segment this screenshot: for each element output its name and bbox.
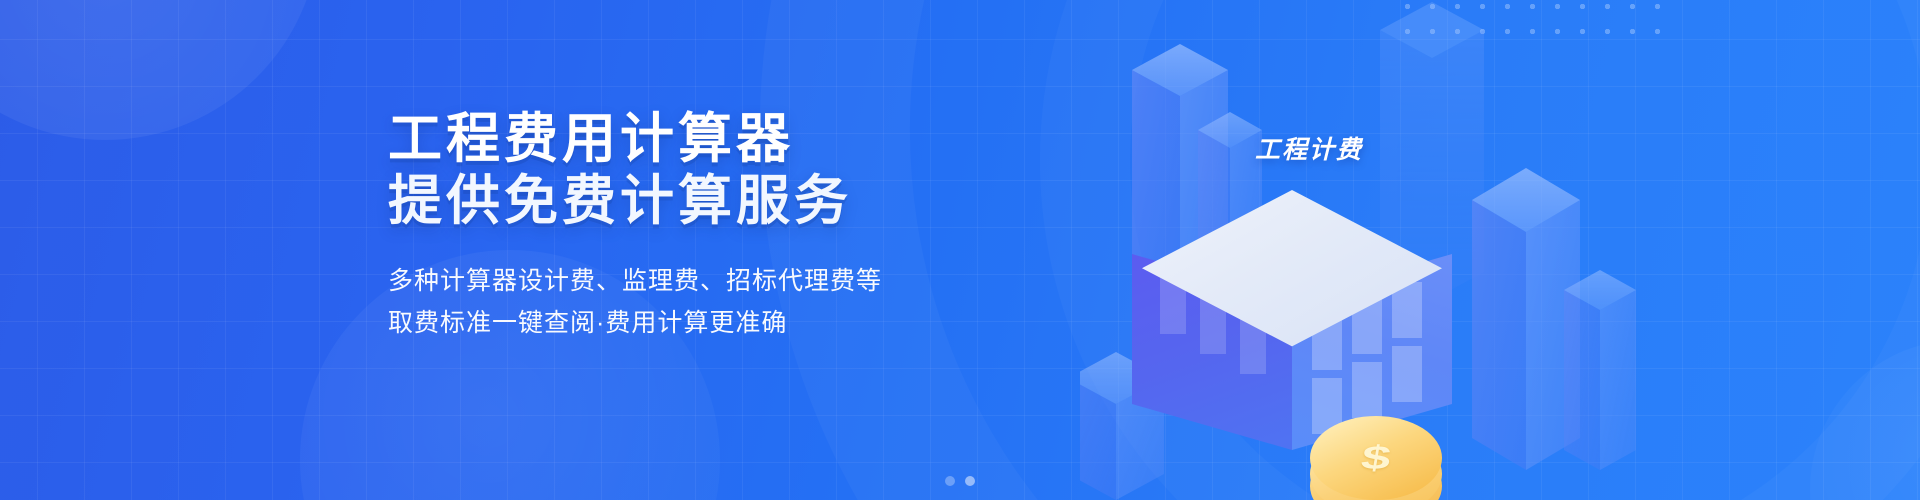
headline-line-1: 工程费用计算器 xyxy=(388,108,882,170)
building-cube: $ xyxy=(1132,236,1452,476)
subtitle-line-1: 多种计算器设计费、监理费、招标代理费等 xyxy=(388,260,882,302)
subtitle-line-2: 取费标准一键查阅·费用计算更准确 xyxy=(388,302,882,344)
carousel-dot-2[interactable] xyxy=(965,476,975,486)
headline-line-2: 提供免费计算服务 xyxy=(388,170,882,232)
carousel-dot-1[interactable] xyxy=(945,476,955,486)
illustration-tag-label: 工程计费 xyxy=(1255,130,1363,166)
banner-copy: 工程费用计算器 提供免费计算服务 多种计算器设计费、监理费、招标代理费等 取费标… xyxy=(388,108,882,344)
tower-right-main xyxy=(1472,168,1580,470)
promo-banner: 工程费用计算器 提供免费计算服务 多种计算器设计费、监理费、招标代理费等 取费标… xyxy=(0,0,1920,500)
isometric-illustration: $ xyxy=(1080,0,1640,500)
carousel-indicators[interactable] xyxy=(0,476,1920,486)
gold-coin-stack-icon: $ xyxy=(1310,414,1442,500)
tower-far-right xyxy=(1564,270,1636,470)
subtitle-block: 多种计算器设计费、监理费、招标代理费等 取费标准一键查阅·费用计算更准确 xyxy=(388,260,882,344)
